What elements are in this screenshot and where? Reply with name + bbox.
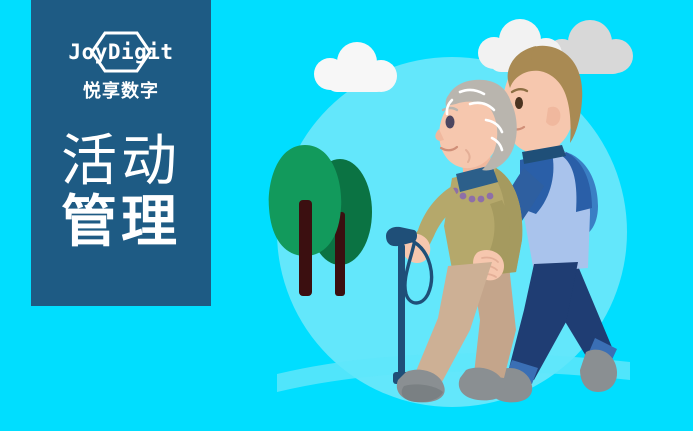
brand-wordmark: JoyDigit (68, 42, 173, 63)
page-title-line2: 管理 (61, 194, 181, 253)
poster-canvas: JoyDigit 悦享数字 活动 管理 (0, 0, 693, 431)
brand-subtitle: 悦享数字 (83, 83, 159, 101)
young-man-eye (515, 97, 523, 109)
page-title-line1: 活动 (61, 133, 181, 192)
page-title: 活动 管理 (61, 133, 181, 253)
brand-logo: JoyDigit (46, 30, 196, 74)
elderly-woman-eye (446, 116, 455, 129)
title-panel: JoyDigit 悦享数字 活动 管理 (31, 0, 211, 306)
